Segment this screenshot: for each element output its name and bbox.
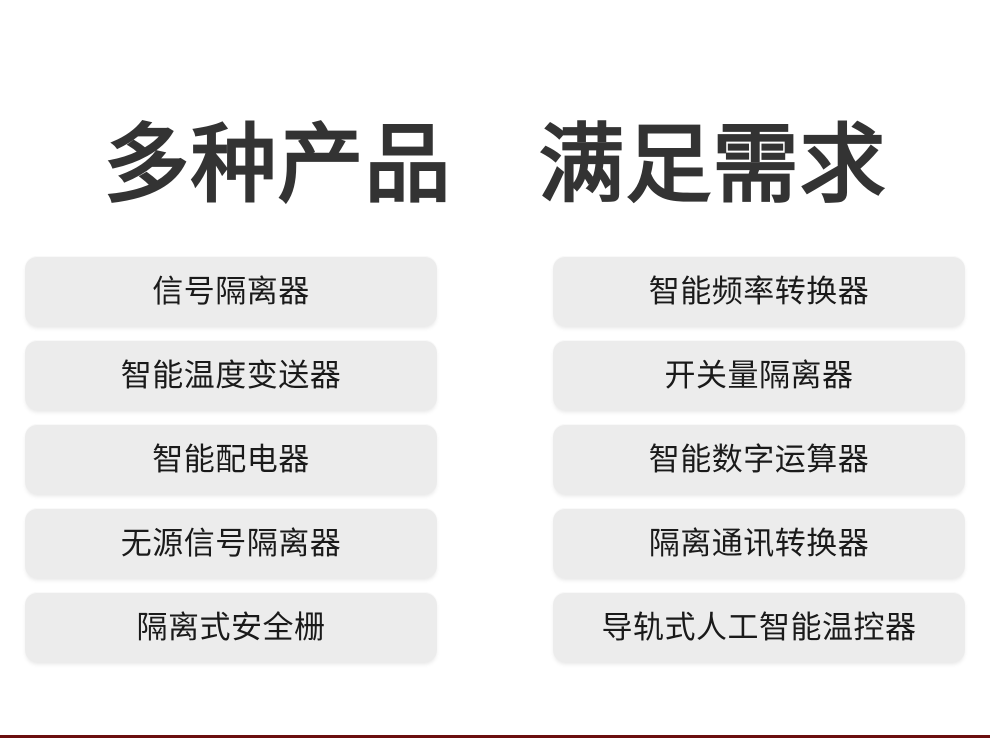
page-title: 多种产品 满足需求 (104, 120, 887, 211)
product-item-label: 智能配电器 (152, 444, 310, 475)
product-item-label: 开关量隔离器 (665, 360, 854, 391)
bottom-divider (0, 735, 990, 738)
product-item[interactable]: 智能数字运算器 (553, 424, 965, 494)
product-item-label: 无源信号隔离器 (121, 528, 342, 559)
product-item[interactable]: 无源信号隔离器 (25, 508, 437, 578)
product-item[interactable]: 智能频率转换器 (553, 256, 965, 326)
product-item[interactable]: 信号隔离器 (25, 256, 437, 326)
product-column-right: 智能频率转换器 开关量隔离器 智能数字运算器 隔离通讯转换器 导轨式人工智能温控… (553, 256, 965, 662)
product-column-left: 信号隔离器 智能温度变送器 智能配电器 无源信号隔离器 隔离式安全栅 (25, 256, 437, 662)
product-item[interactable]: 导轨式人工智能温控器 (553, 592, 965, 662)
product-item-label: 智能数字运算器 (649, 444, 870, 475)
product-item[interactable]: 隔离式安全栅 (25, 592, 437, 662)
product-item[interactable]: 智能温度变送器 (25, 340, 437, 410)
product-categories-banner: 多种产品 满足需求 信号隔离器 智能温度变送器 智能配电器 无源信号隔离器 隔离… (0, 0, 990, 740)
product-item-label: 信号隔离器 (152, 276, 310, 307)
product-item[interactable]: 智能配电器 (25, 424, 437, 494)
product-item-label: 隔离通讯转换器 (649, 528, 870, 559)
product-item-label: 智能频率转换器 (649, 276, 870, 307)
product-item-label: 智能温度变送器 (121, 360, 342, 391)
product-item[interactable]: 隔离通讯转换器 (553, 508, 965, 578)
product-item-label: 导轨式人工智能温控器 (602, 612, 917, 643)
product-columns: 信号隔离器 智能温度变送器 智能配电器 无源信号隔离器 隔离式安全栅 智能频率转… (0, 256, 990, 662)
page-title-block: 多种产品 满足需求 (0, 62, 990, 268)
product-item-label: 隔离式安全栅 (137, 612, 326, 643)
product-item[interactable]: 开关量隔离器 (553, 340, 965, 410)
